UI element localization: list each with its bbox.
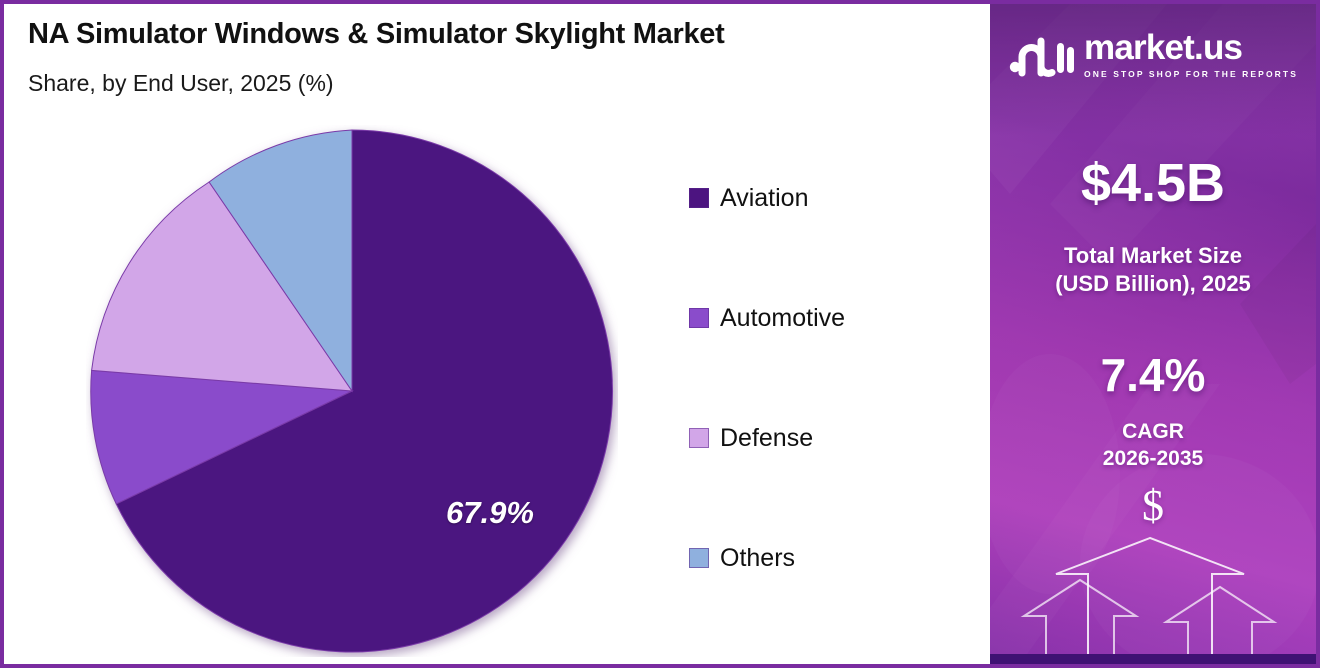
chart-legend: Aviation Automotive Defense Others [689,182,949,662]
stat-cagr-caption-line1: CAGR [990,418,1316,445]
arrow-up-icon-left [1024,580,1136,664]
market-us-logo-icon [1008,33,1074,77]
legend-swatch-icon-automotive [689,308,709,328]
pie-chart-svg [86,125,618,657]
brand-logo[interactable]: market.us ONE STOP SHOP FOR THE REPORTS [990,30,1316,79]
stat-cagr-caption-line2: 2026-2035 [990,445,1316,472]
legend-label-defense: Defense [720,426,813,451]
chart-subtitle: Share, by End User, 2025 (%) [28,70,334,97]
stat-cagr-value: 7.4% [990,352,1316,398]
arrow-up-icon-right [1166,587,1274,664]
logo-wordmark: market.us [1084,30,1242,65]
pie-chart: 67.9% [86,125,618,657]
legend-item-aviation[interactable]: Aviation [689,182,949,214]
legend-label-automotive: Automotive [720,306,845,331]
brand-panel-bottom-bar [990,654,1316,664]
logo-tagline: ONE STOP SHOP FOR THE REPORTS [1084,69,1298,79]
legend-item-others[interactable]: Others [689,542,949,574]
stat-cagr-caption: CAGR 2026-2035 [990,418,1316,473]
infographic-frame: NA Simulator Windows & Simulator Skyligh… [0,0,1320,668]
legend-item-automotive[interactable]: Automotive [689,302,949,334]
legend-label-aviation: Aviation [720,186,809,211]
stat-market-size-caption-line2: (USD Billion), 2025 [990,270,1316,298]
legend-item-defense[interactable]: Defense [689,422,949,454]
page-title: NA Simulator Windows & Simulator Skyligh… [28,18,724,51]
brand-panel: market.us ONE STOP SHOP FOR THE REPORTS … [990,4,1316,664]
legend-swatch-icon-defense [689,428,709,448]
chart-panel: NA Simulator Windows & Simulator Skyligh… [4,4,990,664]
legend-label-others: Others [720,546,795,571]
dollar-sign-icon: $ [990,484,1316,528]
growth-arrows-graphic: $ [990,474,1316,664]
arrow-up-icon-center [1056,538,1244,664]
legend-swatch-icon-aviation [689,188,709,208]
stat-market-size-caption: Total Market Size (USD Billion), 2025 [990,242,1316,298]
legend-swatch-icon-others [689,548,709,568]
stat-market-size-caption-line1: Total Market Size [990,242,1316,270]
stat-market-size-value: $4.5B [990,156,1316,210]
